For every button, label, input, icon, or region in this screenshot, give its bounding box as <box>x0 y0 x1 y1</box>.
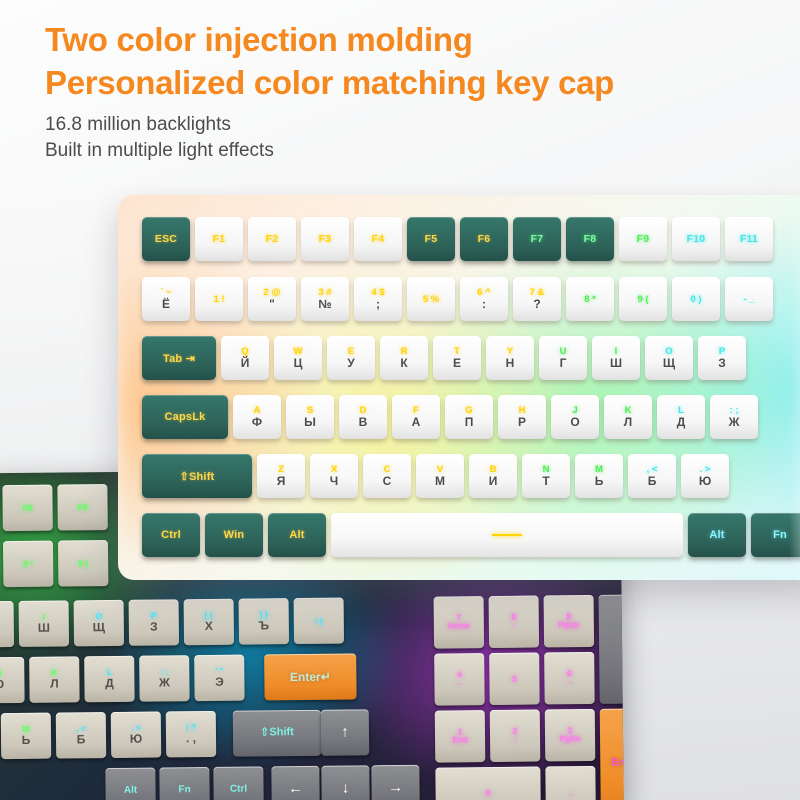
key-bottom-legend: Й <box>241 357 250 370</box>
key-bottom-legend: Ф <box>252 416 262 429</box>
key-label: F6 <box>478 233 491 245</box>
key-j[interactable]: JО <box>0 657 25 704</box>
key-g[interactable]: GП <box>445 395 493 439</box>
key-numpad-5[interactable]: 5 <box>489 653 540 706</box>
key-label: F3 <box>319 233 332 245</box>
key-sym[interactable]: . >Ю <box>111 711 161 758</box>
key-f8[interactable]: F8 <box>566 217 614 261</box>
key-bottom-legend: Б <box>77 733 86 746</box>
key-bottom-legend: Ж <box>729 416 740 429</box>
key-label: F7 <box>531 233 544 245</box>
key-[interactable]: : ;Ж <box>710 395 758 439</box>
key-f9[interactable]: F9 <box>619 217 667 261</box>
key-label: CapsLk <box>165 411 206 423</box>
key-bottom-legend: Э <box>215 676 224 689</box>
key-label: → <box>388 780 403 796</box>
key-0[interactable]: 0 ) <box>672 277 720 321</box>
key-bottom-legend: Ч <box>330 475 338 488</box>
headline-line-2: Personalized color matching key cap <box>45 61 775 104</box>
key-top-legend: 0 ) <box>690 294 701 305</box>
key-label: ESC <box>155 233 177 245</box>
key-f9[interactable]: F9 <box>57 484 107 531</box>
key-label: + <box>622 645 624 654</box>
key-bottom-legend: В <box>359 416 368 429</box>
key-bottom-legend: ? <box>533 298 540 311</box>
key-o[interactable]: OЩ <box>645 336 693 380</box>
headline-block: Two color injection molding Personalized… <box>45 18 775 164</box>
key-bottom-legend: Г <box>560 357 567 370</box>
subheadline-line-2: Built in multiple light effects <box>45 138 775 164</box>
key-bottom-legend: Ш <box>38 622 50 635</box>
key-f5[interactable]: F5 <box>407 217 455 261</box>
key-bottom-legend: Ю <box>699 475 711 488</box>
key-o[interactable]: OЩ <box>74 600 124 647</box>
key-sym[interactable]: , <Б <box>56 712 106 759</box>
key-arrow-right[interactable]: → <box>371 765 419 800</box>
key-numpad-sub: ← <box>455 680 463 688</box>
key-d[interactable]: DВ <box>339 395 387 439</box>
key-bottom-legend: С <box>383 475 392 488</box>
key-sym[interactable]: [ {Х <box>184 599 234 646</box>
key-sym[interactable]: ` ~Ё <box>142 277 190 321</box>
key-top-legend: 8 * <box>584 294 596 305</box>
key-label: F2 <box>266 233 279 245</box>
key-a[interactable]: AФ <box>233 395 281 439</box>
key-alt-2[interactable]: Alt <box>105 768 155 800</box>
key-enter[interactable]: Enter↵ <box>264 653 356 700</box>
key-ctrl[interactable]: Ctrl <box>142 513 200 557</box>
key-label: Alt <box>124 785 137 796</box>
key-c[interactable]: CС <box>363 454 411 498</box>
key-arrow-up[interactable]: ↑ <box>321 709 369 756</box>
key-f[interactable]: FА <box>392 395 440 439</box>
key-bottom-legend: Ё <box>162 298 170 311</box>
key-f2[interactable]: F2 <box>248 217 296 261</box>
key-bottom-legend: И <box>489 475 498 488</box>
key-fn-2[interactable]: Fn <box>159 767 209 800</box>
key-f7[interactable]: F7 <box>513 217 561 261</box>
key-numpad-plus[interactable]: + <box>599 594 624 704</box>
key-m[interactable]: MЬ <box>1 713 51 760</box>
key-arrow-down[interactable]: ↓ <box>321 765 369 800</box>
key-tab[interactable]: Tab ⇥ <box>142 336 216 380</box>
key-bottom-legend: Х <box>205 620 213 633</box>
key-bottom-legend: О <box>570 416 579 429</box>
key-1[interactable]: 1 ! <box>195 277 243 321</box>
key-bottom-legend: Л <box>624 416 632 429</box>
key-top-legend: \ | <box>315 616 322 625</box>
key-r[interactable]: RК <box>380 336 428 380</box>
key-numpad-digit: 5 <box>512 674 517 683</box>
key-bottom-legend: Ъ <box>259 620 270 633</box>
key-v[interactable]: VМ <box>416 454 464 498</box>
key-t[interactable]: TЕ <box>433 336 481 380</box>
key-shift-left[interactable]: ⇧Shift <box>142 454 252 498</box>
key-numpad-4[interactable]: 4← <box>434 653 485 706</box>
key-f6[interactable]: F6 <box>460 217 508 261</box>
key-bottom-legend: Р <box>518 416 526 429</box>
key-bottom-legend: Я <box>277 475 286 488</box>
key-label: ← <box>288 781 303 797</box>
key-f3[interactable]: F3 <box>301 217 349 261</box>
key-bottom-legend: Е <box>453 357 461 370</box>
headline-line-1: Two color injection molding <box>45 18 775 61</box>
key-bottom-legend: Ш <box>610 357 622 370</box>
key-numpad-sub: Home <box>448 623 470 632</box>
key-numpad-enter[interactable]: Enter <box>600 708 624 800</box>
key-win[interactable]: Win <box>205 513 263 557</box>
key-numpad-1[interactable]: 1End <box>435 710 486 763</box>
key-bottom-legend: Щ <box>663 357 675 370</box>
spacebar-indicator <box>492 534 522 536</box>
key-capslock[interactable]: CapsLk <box>142 395 228 439</box>
key-bottom-legend: Ы <box>304 416 316 429</box>
key-label: Enter <box>611 757 624 769</box>
key-bottom-legend: Д <box>105 677 114 690</box>
key-top-legend: 5 % <box>423 294 439 305</box>
key-f10[interactable]: F10 <box>672 217 720 261</box>
key-bottom-legend: П <box>465 416 474 429</box>
key-w[interactable]: WЦ <box>274 336 322 380</box>
key-f11[interactable]: F11 <box>725 217 773 261</box>
key-bottom-legend: Н <box>506 357 515 370</box>
key-x[interactable]: XЧ <box>310 454 358 498</box>
key-numpad-sub: PgUp <box>558 621 579 630</box>
key-numpad-dot[interactable]: . <box>545 766 596 800</box>
key-arrow-left[interactable]: ← <box>271 766 319 800</box>
key-label: Alt <box>289 529 304 541</box>
key-numpad-sub: ↓ <box>513 736 517 744</box>
key-label: ↓ <box>342 781 350 797</box>
key-label: Win <box>224 529 245 541</box>
key-numpad-6[interactable]: 6→ <box>544 652 595 705</box>
key-label: F9 <box>637 233 650 245</box>
key-bottom-legend: Ю <box>130 733 143 746</box>
key-num[interactable]: 9 ( <box>58 540 108 587</box>
key-top-legend: 1 ! <box>213 294 224 305</box>
key-numpad-0[interactable]: 0 <box>435 767 541 800</box>
key-f4[interactable]: F4 <box>354 217 402 261</box>
key-label: Alt <box>709 529 724 541</box>
key-5[interactable]: 5 % <box>407 277 455 321</box>
key-k[interactable]: KЛ <box>29 656 79 703</box>
key-4[interactable]: 4 $; <box>354 277 402 321</box>
key-bottom-legend: Л <box>50 678 59 691</box>
key-b[interactable]: BИ <box>469 454 517 498</box>
key-numpad-sub: → <box>565 678 573 686</box>
key-numpad-2[interactable]: 2↓ <box>490 710 541 763</box>
key-p[interactable]: PЗ <box>129 599 179 646</box>
key-label: F11 <box>740 233 758 245</box>
key-s[interactable]: SЫ <box>286 395 334 439</box>
tab-arrows-icon: Tab ⇥ <box>163 352 195 365</box>
product-photo: F8F98 *9 (UГIШOЩPЗ[ {Х] }Ъ\ |JОKЛLД: ;Ж'… <box>0 185 800 800</box>
subheadline-line-1: 16.8 million backlights <box>45 112 775 138</box>
key-h[interactable]: HР <box>498 395 546 439</box>
key-bottom-legend: Щ <box>93 621 105 634</box>
key-bottom-legend: Д <box>677 416 686 429</box>
key-sym[interactable]: - _ <box>725 277 773 321</box>
key-8[interactable]: 8 * <box>566 277 614 321</box>
key-sym[interactable]: , <Б <box>628 454 676 498</box>
key-top-legend: F8 <box>23 503 33 512</box>
key-label: Fn <box>773 529 787 541</box>
key-num[interactable]: 8 * <box>3 541 53 588</box>
key-label: F5 <box>425 233 438 245</box>
key-sym[interactable]: ' "Э <box>194 655 244 702</box>
key-alt[interactable]: Alt <box>268 513 326 557</box>
key-sym[interactable]: : ;Ж <box>139 655 189 702</box>
key-fn-right[interactable]: Fn <box>751 513 800 557</box>
key-numpad-3[interactable]: 3PgDn <box>545 709 596 762</box>
key-bottom-legend: А <box>412 416 421 429</box>
key-9[interactable]: 9 ( <box>619 277 667 321</box>
key-k[interactable]: KЛ <box>604 395 652 439</box>
key-sym[interactable]: . >Ю <box>681 454 729 498</box>
key-2[interactable]: 2 @" <box>248 277 296 321</box>
key-bottom-legend: У <box>347 357 354 370</box>
key-bottom-legend: : <box>482 298 486 311</box>
key-top-legend: 9 ( <box>78 559 88 568</box>
key-label: Ctrl <box>230 784 247 795</box>
key-top-legend: - _ <box>743 294 754 305</box>
key-u[interactable]: UГ <box>0 601 14 648</box>
key-bottom-legend: Ц <box>294 357 303 370</box>
key-numpad-sub: End <box>452 737 467 746</box>
key-6[interactable]: 6 ^: <box>460 277 508 321</box>
key-bottom-legend: О <box>0 678 4 691</box>
key-label: ⇧Shift <box>260 727 294 739</box>
key-bottom-legend: Ж <box>159 677 170 690</box>
main-keyboard: ESCF1F2F3F4F5F6F7F8F9F10F11` ~Ё1 !2 @"3 … <box>118 195 800 580</box>
key-y[interactable]: YН <box>486 336 534 380</box>
key-numpad-sub: PgDn <box>560 735 581 744</box>
key-u[interactable]: UГ <box>539 336 587 380</box>
key-q[interactable]: QЙ <box>221 336 269 380</box>
key-label: F8 <box>584 233 597 245</box>
key-m[interactable]: MЬ <box>575 454 623 498</box>
key-j[interactable]: JО <box>551 395 599 439</box>
key-label: ↑ <box>341 725 349 741</box>
key-numpad-digit: 0 <box>486 789 491 798</box>
key-7[interactable]: 7 &? <box>513 277 561 321</box>
key-sym[interactable]: ] }Ъ <box>239 598 289 645</box>
key-3[interactable]: 3 #№ <box>301 277 349 321</box>
key-sym[interactable]: / ?. , <box>166 711 216 758</box>
key-shift-right[interactable]: ⇧Shift <box>233 710 321 757</box>
key-label: Fn <box>178 785 190 796</box>
key-numpad-8[interactable]: 8↑ <box>489 596 540 649</box>
key-n[interactable]: NТ <box>522 454 570 498</box>
key-ctrl-2[interactable]: Ctrl <box>213 766 263 800</box>
key-numpad-7[interactable]: 7Home <box>434 596 485 649</box>
key-bottom-legend: Ь <box>22 734 31 747</box>
key-top-legend: F9 <box>78 503 88 512</box>
key-i[interactable]: IШ <box>19 600 69 647</box>
key-bottom-legend: Ь <box>595 475 604 488</box>
key-f8[interactable]: F8 <box>2 485 52 532</box>
key-z[interactable]: ZЯ <box>257 454 305 498</box>
key-label: Enter↵ <box>290 670 331 683</box>
key-label: F10 <box>687 233 706 245</box>
key-esc[interactable]: ESC <box>142 217 190 261</box>
key-l[interactable]: LД <box>657 395 705 439</box>
key-label: F1 <box>213 233 226 245</box>
key-bottom-legend: З <box>150 621 158 634</box>
key-bottom-legend: № <box>318 298 331 311</box>
key-bottom-legend: З <box>718 357 726 370</box>
key-l[interactable]: LД <box>84 656 134 703</box>
key-sym[interactable]: \ | <box>294 598 344 645</box>
key-label: F4 <box>372 233 385 245</box>
key-bottom-legend: ; <box>376 298 380 311</box>
key-bottom-legend: М <box>435 475 445 488</box>
key-bottom-legend: К <box>400 357 407 370</box>
key-bottom-legend: " <box>269 298 275 311</box>
key-spacebar[interactable] <box>331 513 683 557</box>
key-label: ⇧Shift <box>180 470 215 483</box>
key-i[interactable]: IШ <box>592 336 640 380</box>
key-numpad-9[interactable]: 9PgUp <box>544 595 595 648</box>
key-f1[interactable]: F1 <box>195 217 243 261</box>
key-bottom-legend: Б <box>648 475 657 488</box>
key-top-legend: 8 * <box>23 559 33 568</box>
key-top-legend: 9 ( <box>637 294 648 305</box>
key-numpad-digit: . <box>569 788 571 797</box>
key-numpad-sub: ↑ <box>512 622 516 630</box>
key-bottom-legend: . , <box>186 732 196 745</box>
key-label: Ctrl <box>161 529 181 541</box>
key-e[interactable]: EУ <box>327 336 375 380</box>
key-bottom-legend: Т <box>542 475 549 488</box>
key-alt-right[interactable]: Alt <box>688 513 746 557</box>
key-p[interactable]: PЗ <box>698 336 746 380</box>
